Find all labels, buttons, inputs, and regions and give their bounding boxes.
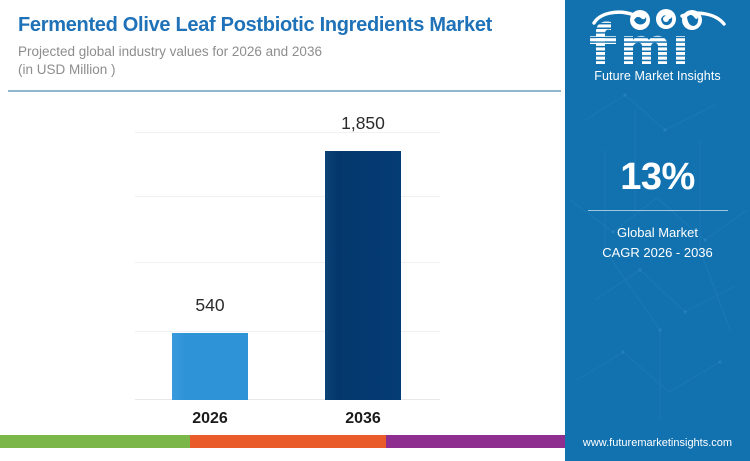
bar-2036[interactable] bbox=[325, 151, 401, 400]
bar-group-2036: 1,850 2036 bbox=[325, 122, 401, 400]
cagr-divider bbox=[588, 210, 728, 211]
bar-value-label-2036: 1,850 bbox=[293, 113, 433, 134]
chart-subtitle: Projected global industry values for 202… bbox=[18, 43, 553, 79]
globe-badge-icon-1 bbox=[630, 10, 650, 30]
chart-subtitle-line-1: Projected global industry values for 202… bbox=[18, 43, 553, 61]
globe-badge-icon-2 bbox=[656, 9, 676, 29]
website-url[interactable]: www.futuremarketinsights.com bbox=[565, 437, 750, 449]
logo-letter-f-bar bbox=[590, 36, 616, 44]
cagr-value: 13% bbox=[565, 158, 750, 196]
chart-subtitle-line-2: (in USD Million ) bbox=[18, 61, 553, 79]
bar-group-2026: 540 2026 bbox=[172, 122, 248, 400]
cagr-caption-line-2: CAGR 2026 - 2036 bbox=[565, 243, 750, 263]
infographic-root: Fermented Olive Leaf Postbiotic Ingredie… bbox=[0, 0, 750, 461]
page-title: Fermented Olive Leaf Postbiotic Ingredie… bbox=[18, 14, 553, 37]
brand-panel: Future Market Insights 13% Global Market… bbox=[565, 0, 750, 461]
logo-letter-i bbox=[676, 36, 685, 64]
fmi-logo: Future Market Insights bbox=[565, 6, 750, 83]
logo-letter-m bbox=[624, 36, 667, 64]
bar-chart: 540 2026 1,850 2036 bbox=[135, 120, 440, 400]
header-divider bbox=[8, 90, 561, 92]
fmi-logo-wordmark: Future Market Insights bbox=[565, 69, 750, 83]
cagr-callout: 13% Global Market CAGR 2026 - 2036 bbox=[565, 158, 750, 263]
cagr-caption-line-1: Global Market bbox=[565, 223, 750, 243]
globe-badge-icon-3 bbox=[682, 10, 702, 30]
x-axis-label-2026: 2026 bbox=[140, 410, 280, 428]
strip-segment-orange bbox=[190, 435, 386, 448]
bar-value-label-2026: 540 bbox=[140, 295, 280, 316]
strip-segment-green bbox=[0, 435, 190, 448]
chart-header: Fermented Olive Leaf Postbiotic Ingredie… bbox=[18, 14, 553, 79]
logo-swoosh-left-icon bbox=[594, 12, 634, 23]
x-axis-label-2036: 2036 bbox=[293, 410, 433, 428]
strip-segment-purple bbox=[386, 435, 565, 448]
fmi-logo-mark bbox=[578, 6, 738, 68]
bottom-color-strip bbox=[0, 435, 565, 448]
bar-2026[interactable] bbox=[172, 333, 248, 400]
chart-panel: Fermented Olive Leaf Postbiotic Ingredie… bbox=[0, 0, 565, 448]
